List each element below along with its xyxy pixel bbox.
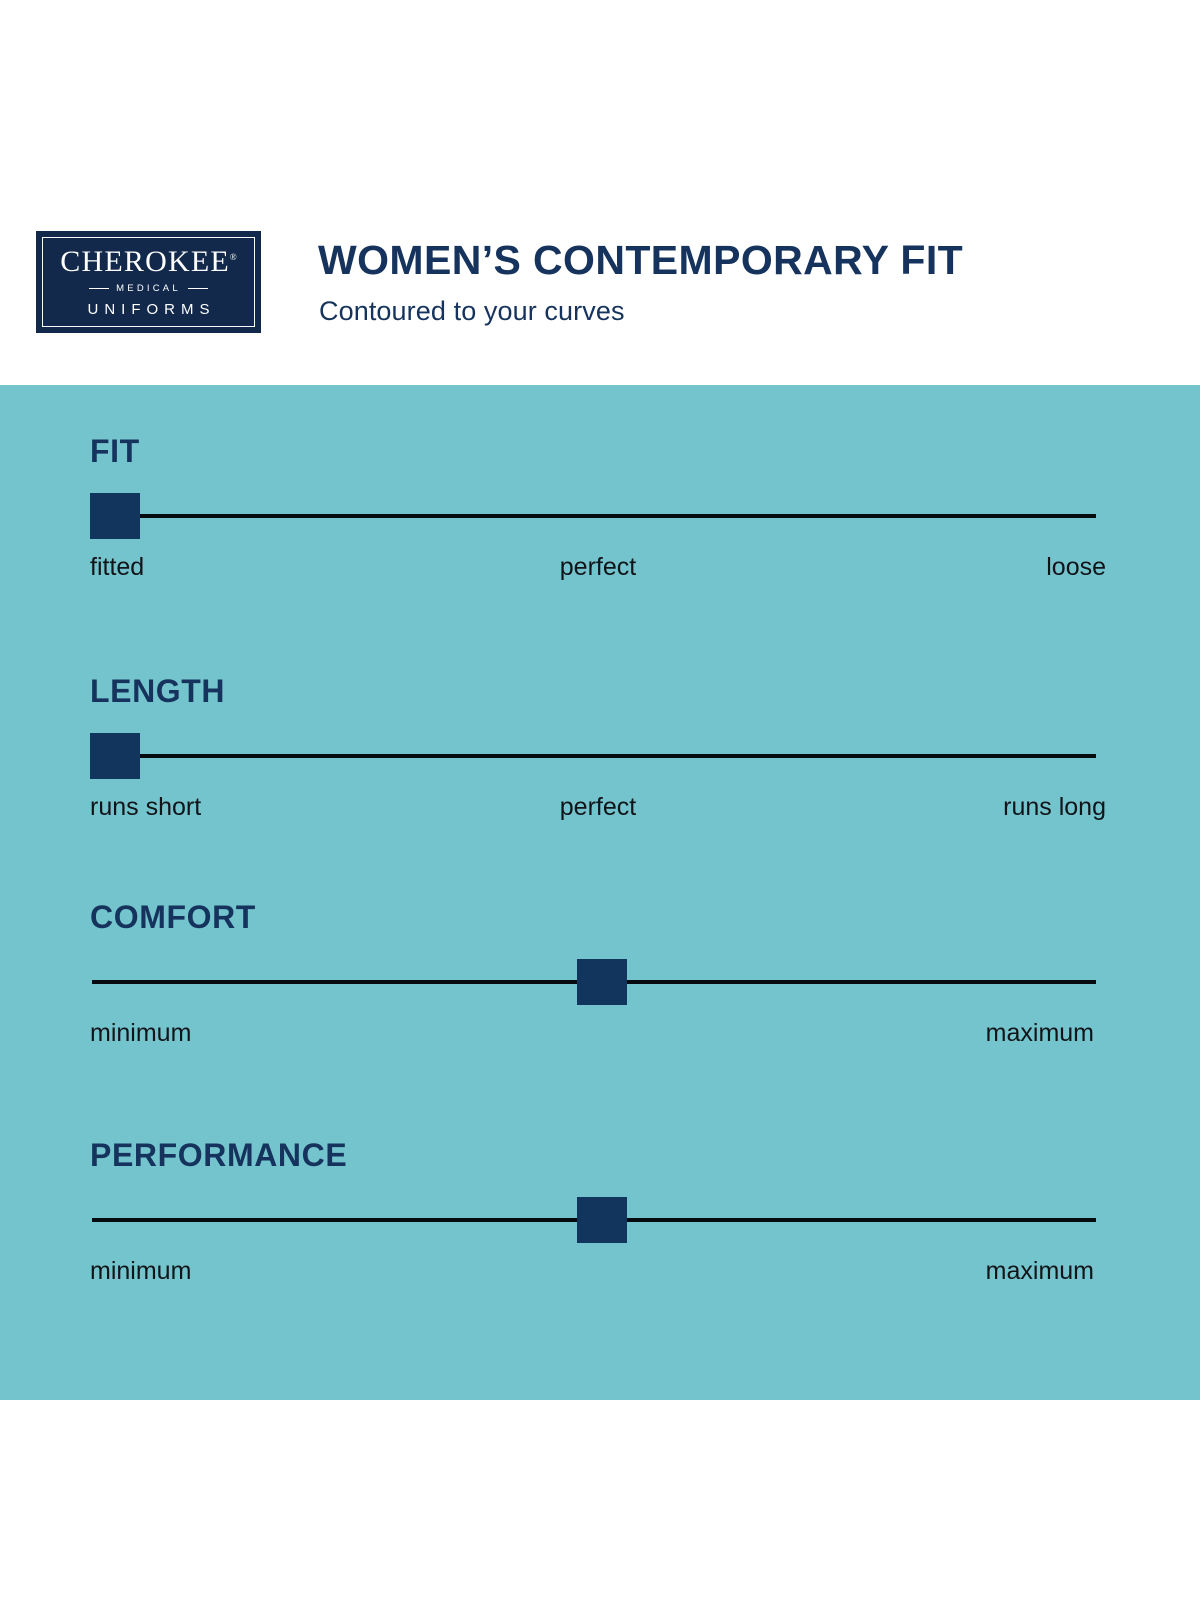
scale-performance-label-right: maximum [986,1259,1094,1284]
scales-panel: FIT fitted perfect loose LENGTH runs sho… [0,385,1200,1400]
scale-length-label-left: runs short [90,795,201,820]
logo-text-stack: CHEROKEE® MEDICAL UNIFORMS [36,231,261,333]
scale-length-slider[interactable] [90,731,1106,781]
scale-performance-label-left: minimum [90,1259,191,1284]
scale-length-label-right: runs long [1003,795,1106,820]
scale-comfort-labels: minimum maximum [90,1021,1106,1055]
scale-length-labels: runs short perfect runs long [90,795,1106,829]
scale-length-heading: LENGTH [90,675,1106,707]
logo-medical-row: MEDICAL [89,284,208,294]
scale-comfort-label-left: minimum [90,1021,191,1046]
fit-guide-page: CHEROKEE® MEDICAL UNIFORMS WOMEN’S CONTE… [0,0,1200,1600]
header: CHEROKEE® MEDICAL UNIFORMS WOMEN’S CONTE… [0,0,1200,385]
logo-rule-left-icon [89,288,109,290]
scale-length-handle[interactable] [90,733,140,779]
scale-performance-handle[interactable] [577,1197,627,1243]
logo-uniforms-text: UNIFORMS [82,302,216,317]
scale-comfort-handle[interactable] [577,959,627,1005]
scale-performance-slider[interactable] [90,1195,1106,1245]
scale-comfort-label-right: maximum [986,1021,1094,1046]
scale-performance: PERFORMANCE minimum maximum [90,1139,1106,1293]
scale-fit-track[interactable] [140,514,1096,518]
scale-length-label-center: perfect [560,795,636,820]
scale-comfort-heading: COMFORT [90,901,1106,933]
scale-fit-label-left: fitted [90,555,144,580]
scale-length: LENGTH runs short perfect runs long [90,675,1106,829]
scale-fit-label-center: perfect [560,555,636,580]
logo-brand-name: CHEROKEE® [60,247,236,277]
logo-brand-text: CHEROKEE [60,245,230,278]
scale-performance-labels: minimum maximum [90,1259,1106,1293]
scale-performance-heading: PERFORMANCE [90,1139,1106,1171]
scale-comfort-slider[interactable] [90,957,1106,1007]
scale-fit-label-right: loose [1046,555,1106,580]
page-subtitle: Contoured to your curves [319,298,625,325]
scale-fit-labels: fitted perfect loose [90,555,1106,589]
scale-fit-slider[interactable] [90,491,1106,541]
scale-fit-heading: FIT [90,435,1106,467]
logo-rule-right-icon [188,288,208,290]
scale-fit-handle[interactable] [90,493,140,539]
scale-length-track[interactable] [140,754,1096,758]
page-title: WOMEN’S CONTEMPORARY FIT [318,240,963,281]
scale-fit: FIT fitted perfect loose [90,435,1106,589]
registered-trademark-icon: ® [230,252,237,262]
cherokee-medical-uniforms-logo: CHEROKEE® MEDICAL UNIFORMS [36,231,261,333]
scale-comfort: COMFORT minimum maximum [90,901,1106,1055]
logo-medical-text: MEDICAL [116,284,181,294]
